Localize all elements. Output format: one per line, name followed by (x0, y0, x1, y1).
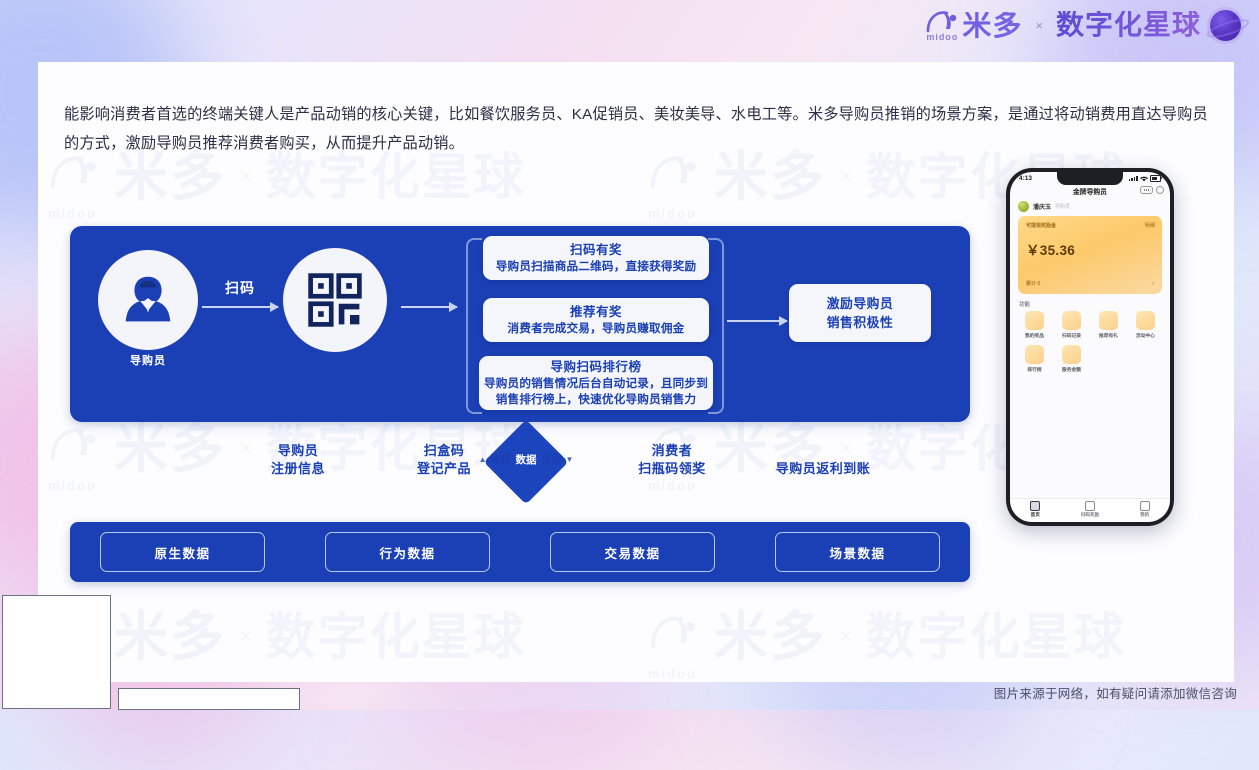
benefit-card-recommend: 推荐有奖 消费者完成交易，导购员赚取佣金 (483, 298, 709, 342)
user-name: 潘庆玉 (1033, 202, 1051, 211)
phone-user-row[interactable]: 潘庆玉 导购员 (1010, 198, 1170, 216)
step-label-register: 导购员 注册信息 (234, 442, 362, 478)
chevron-right-icon[interactable]: › (1152, 281, 1154, 287)
diamond-center-label: 数据 (514, 452, 539, 467)
grid-item-label: 排行榜 (1027, 366, 1041, 373)
phone-screen: 4:13 金牌导购员 潘庆玉 导购员 (1010, 172, 1170, 522)
grid-item-label: 服务金额 (1062, 366, 1081, 373)
watermark-sub: midoo (648, 206, 700, 221)
watermark-zh: 米多 (114, 610, 226, 664)
grid-item[interactable]: 我的奖品 (1016, 311, 1053, 339)
phone-notch (1057, 172, 1123, 185)
female-salesperson-icon (98, 250, 198, 350)
tab-profile[interactable]: 我的 (1140, 501, 1150, 518)
watermark-logo-icon: midoo (648, 613, 700, 661)
wifi-icon (1140, 176, 1148, 182)
watermark-x: × (240, 626, 252, 649)
phone-function-grid: 我的奖品 扫码记录 推荐有礼 活动中心 排行榜 服务金额 (1010, 311, 1170, 379)
watermark-sub: midoo (48, 206, 100, 221)
arrow-to-result (727, 320, 787, 322)
tab-home[interactable]: 首页 (1030, 501, 1040, 518)
midoo-bird-logo-icon: midoo (925, 9, 959, 41)
watermark-sub: midoo (648, 478, 700, 493)
phone-mockup: 4:13 金牌导购员 潘庆玉 导购员 (1006, 168, 1174, 526)
grid-item[interactable]: 扫码记录 (1053, 311, 1090, 339)
flow-diagram-panel: 导购员 扫码 扫码有奖 导购员扫描商品二维码，直接获得奖励 推荐有奖 (70, 226, 970, 422)
step-line-2: 注册信息 (234, 460, 362, 478)
phone-nav-title: 金牌导购员 (1073, 186, 1107, 196)
watermark-logo-icon: midoo (648, 153, 700, 201)
phone-section-title: 功能 (1010, 294, 1170, 311)
avatar-label: 导购员 (98, 352, 198, 368)
caret-down-icon: ▼ (566, 455, 574, 464)
data-box-behavior[interactable]: 行为数据 (325, 532, 490, 572)
data-box-transaction[interactable]: 交易数据 (550, 532, 715, 572)
overlay-box[interactable] (2, 595, 111, 709)
scan-step-label: 扫码 (203, 278, 277, 298)
caret-up-icon: ▲ (479, 455, 487, 464)
card-desc: 导购员扫描商品二维码，直接获得奖励 (496, 259, 697, 275)
data-types-bar: 原生数据 行为数据 交易数据 场景数据 (70, 522, 970, 582)
card-title: 扫码有奖 (570, 242, 622, 259)
status-icons (1129, 175, 1161, 182)
tab-label: 我的 (1140, 512, 1149, 518)
grid-item[interactable]: 排行榜 (1016, 345, 1053, 373)
brand-bar: midoo 米多 × 数字化星球 (0, 0, 1259, 58)
card-desc: 导购员的销售情况后台自动记录，且同步到 (484, 376, 708, 392)
balance-label: 可提现奖励金 (1026, 222, 1154, 229)
user-tag: 导购员 (1055, 203, 1070, 210)
watermark-x: × (840, 626, 852, 649)
grid-item[interactable]: 活动中心 (1127, 311, 1164, 339)
step-label-consumer: 消费者 扫瓶码领奖 (608, 442, 736, 478)
result-line-2: 销售积极性 (827, 313, 893, 332)
body-paragraph: 能影响消费者首选的终端关键人是产品动销的核心关键，比如餐饮服务员、KA促销员、美… (64, 100, 1214, 158)
card-title: 推荐有奖 (570, 304, 622, 321)
signal-bars-icon (1129, 176, 1138, 181)
result-line-1: 激励导购员 (827, 294, 893, 313)
benefit-card-leaderboard: 导购扫码排行榜 导购员的销售情况后台自动记录，且同步到 销售排行榜上，快速优化导… (479, 356, 713, 410)
brand-separator: × (1035, 18, 1043, 33)
avatar (1018, 201, 1029, 212)
step-line-1: 导购员 (234, 442, 362, 460)
circle-icon[interactable] (1156, 186, 1164, 194)
midoo-logo: midoo 米多 (925, 9, 1022, 41)
tab-scan-reward[interactable]: 扫码奖励 (1081, 501, 1099, 518)
step-label-rebate: 导购员返利到账 (738, 460, 908, 478)
share-gift-icon (1099, 311, 1118, 330)
watermark-zh: 米多 (714, 150, 826, 204)
grid-item[interactable]: 服务金额 (1053, 345, 1090, 373)
diamond-left-label: 捕获 (490, 452, 511, 467)
planet-brand-label: 数字化星球 (1056, 11, 1201, 39)
watermark-logo-icon: midoo (48, 425, 100, 473)
phone-tab-bar: 首页 扫码奖励 我的 (1010, 498, 1170, 522)
balance-amount: ￥35.36 (1026, 239, 1154, 259)
watermark-zh2: 数字化星球 (266, 612, 526, 662)
grid-item-label: 推荐有礼 (1099, 332, 1118, 339)
data-box-native[interactable]: 原生数据 (100, 532, 265, 572)
scan-record-icon (1062, 311, 1081, 330)
watermark: midoo 米多 × 数字化星球 (648, 610, 1126, 664)
balance-sub: 累计 0 (1026, 280, 1040, 287)
data-flow-diamond: ▲ 捕获 数据 反馈 ▼ (456, 436, 596, 488)
step-line-2: 扫瓶码领奖 (608, 460, 736, 478)
card-title: 导购扫码排行榜 (550, 359, 641, 376)
tab-label: 扫码奖励 (1081, 512, 1099, 518)
watermark-logo-icon: midoo (48, 153, 100, 201)
activity-icon (1136, 311, 1155, 330)
midoo-sub-label: midoo (926, 32, 958, 42)
diamond-right-label: 反馈 (542, 452, 563, 467)
rank-icon (1025, 345, 1044, 364)
battery-icon (1150, 175, 1161, 182)
balance-card[interactable]: 可提现奖励金 明细 ￥35.36 累计 0 › (1018, 216, 1162, 294)
watermark-zh: 米多 (114, 150, 226, 204)
scan-icon (1085, 501, 1095, 511)
watermark-zh2: 数字化星球 (266, 152, 526, 202)
arrow-to-branch (401, 306, 457, 308)
tab-label: 首页 (1031, 512, 1040, 518)
gift-icon (1025, 311, 1044, 330)
qr-code-icon (283, 248, 387, 352)
balance-detail-link[interactable]: 明细 (1145, 222, 1155, 229)
footer-note: 图片来源于网络，如有疑问请添加微信咨询 (994, 683, 1237, 702)
step-line-1: 消费者 (608, 442, 736, 460)
overlay-input-box[interactable] (118, 688, 300, 710)
watermark-x: × (840, 438, 852, 461)
benefit-card-scan: 扫码有奖 导购员扫描商品二维码，直接获得奖励 (483, 236, 709, 280)
person-icon (1140, 501, 1150, 511)
midoo-zh-label: 米多 (962, 12, 1022, 41)
data-box-scenario[interactable]: 场景数据 (775, 532, 940, 572)
brand-lockup: midoo 米多 × 数字化星球 (925, 9, 1241, 41)
phone-nav-actions[interactable] (1140, 186, 1164, 194)
watermark-zh: 米多 (714, 610, 826, 664)
result-card: 激励导购员 销售积极性 (789, 284, 931, 342)
grid-item-label: 扫码记录 (1062, 332, 1081, 339)
more-dots-icon[interactable] (1140, 186, 1153, 194)
watermark: midoo 米多 × 数字化星球 (48, 610, 526, 664)
grid-item[interactable]: 推荐有礼 (1090, 311, 1127, 339)
card-desc-2: 销售排行榜上，快速优化导购员销售力 (496, 392, 697, 408)
purple-planet-icon (1210, 10, 1241, 41)
watermark-sub: midoo (48, 478, 100, 493)
diamond-labels: ▲ 捕获 数据 反馈 ▼ (456, 452, 596, 467)
home-icon (1030, 501, 1040, 511)
arrow-scan (202, 306, 278, 308)
watermark: midoo 米多 × 数字化星球 (48, 150, 526, 204)
grid-item-label: 活动中心 (1136, 332, 1155, 339)
card-desc: 消费者完成交易，导购员赚取佣金 (508, 321, 685, 337)
watermark-x: × (840, 166, 852, 189)
watermark-zh: 米多 (114, 422, 226, 476)
phone-nav-bar: 金牌导购员 (1010, 183, 1170, 198)
grid-item-label: 我的奖品 (1025, 332, 1044, 339)
watermark-sub: midoo (648, 666, 700, 681)
watermark-x: × (240, 166, 252, 189)
wallet-icon (1062, 345, 1081, 364)
status-time: 4:13 (1019, 175, 1032, 182)
watermark-zh2: 数字化星球 (866, 612, 1126, 662)
